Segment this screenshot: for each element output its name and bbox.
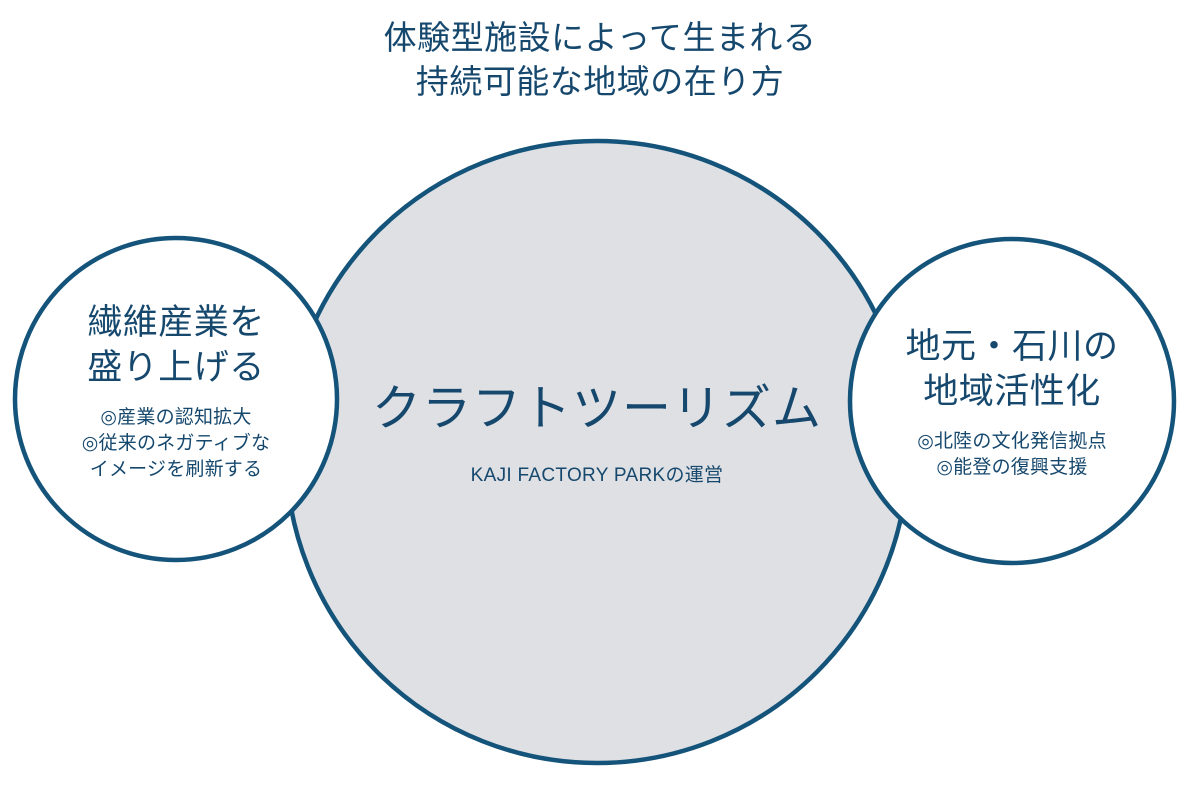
right-circle-title-line-2: 地域活性化: [862, 370, 1162, 415]
left-circle-label: 繊維産業を 盛り上げる ◎産業の認知拡大 ◎従来のネガティブな イメージを刷新す…: [26, 301, 326, 483]
left-circle-title-line-1: 繊維産業を: [26, 301, 326, 346]
center-circle-label: クラフトツーリズム KAJI FACTORY PARKの運営: [297, 382, 897, 487]
diagram-canvas: 体験型施設によって生まれる 持続可能な地域の在り方 クラフトツーリズム KAJI…: [0, 0, 1200, 800]
left-circle-bullet-3: イメージを刷新する: [26, 457, 326, 483]
center-circle-subtitle: KAJI FACTORY PARKの運営: [297, 460, 897, 487]
center-circle-title: クラフトツーリズム: [297, 382, 897, 437]
right-circle-title-line-1: 地元・石川の: [862, 325, 1162, 370]
right-circle-bullet-2: ◎能登の復興支援: [862, 455, 1162, 481]
right-circle-bullets: ◎北陸の文化発信拠点 ◎能登の復興支援: [862, 429, 1162, 481]
left-circle-bullets: ◎産業の認知拡大 ◎従来のネガティブな イメージを刷新する: [26, 405, 326, 484]
right-circle-label: 地元・石川の 地域活性化 ◎北陸の文化発信拠点 ◎能登の復興支援: [862, 325, 1162, 481]
right-circle-bullet-1: ◎北陸の文化発信拠点: [862, 429, 1162, 455]
left-circle-bullet-2: ◎従来のネガティブな: [26, 431, 326, 457]
left-circle-bullet-1: ◎産業の認知拡大: [26, 405, 326, 431]
left-circle-title-line-2: 盛り上げる: [26, 346, 326, 391]
